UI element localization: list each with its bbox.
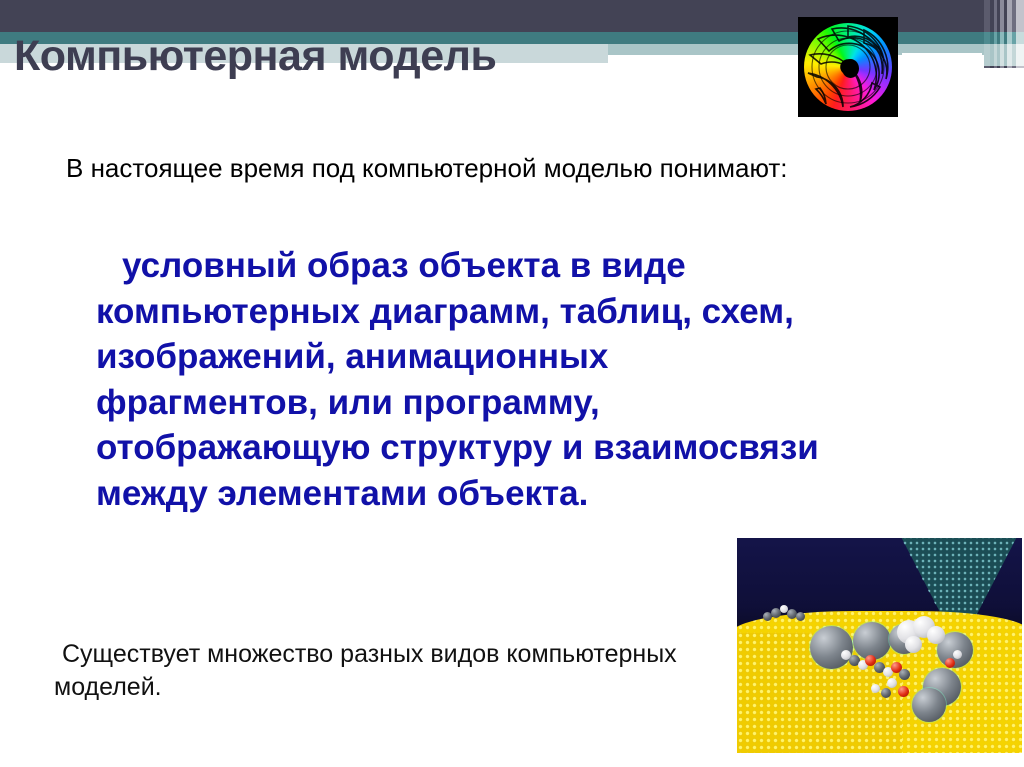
atom-oxygen xyxy=(898,686,909,697)
fullerene-sphere xyxy=(912,688,946,722)
header-vertical-stripes-teal xyxy=(984,32,1024,44)
atom-cluster xyxy=(927,626,945,644)
header-accent-white-bar xyxy=(902,53,982,58)
atom xyxy=(871,684,880,693)
molecular-simulation-image xyxy=(737,538,1022,753)
atom xyxy=(887,678,897,688)
rainbow-vortex-logo xyxy=(798,17,898,117)
intro-paragraph: В настоящее время под компьютерной модел… xyxy=(66,152,926,185)
slide-canvas: Компьютерная модель В настоящее время xyxy=(0,0,1024,767)
page-title: Компьютерная модель xyxy=(14,34,496,79)
atom-cluster xyxy=(905,636,922,653)
atom xyxy=(796,612,805,621)
definition-paragraph: условный образ объекта в виде компьютерн… xyxy=(96,243,826,516)
atom xyxy=(881,688,891,698)
atom xyxy=(899,669,910,680)
vortex-center-hole xyxy=(842,59,859,78)
header-vertical-stripes-pale xyxy=(984,44,1024,66)
atom-oxygen xyxy=(945,658,955,668)
closing-paragraph: Существует множество разных видов компью… xyxy=(54,638,714,703)
fullerene-sphere xyxy=(810,626,853,669)
atom xyxy=(953,650,962,659)
